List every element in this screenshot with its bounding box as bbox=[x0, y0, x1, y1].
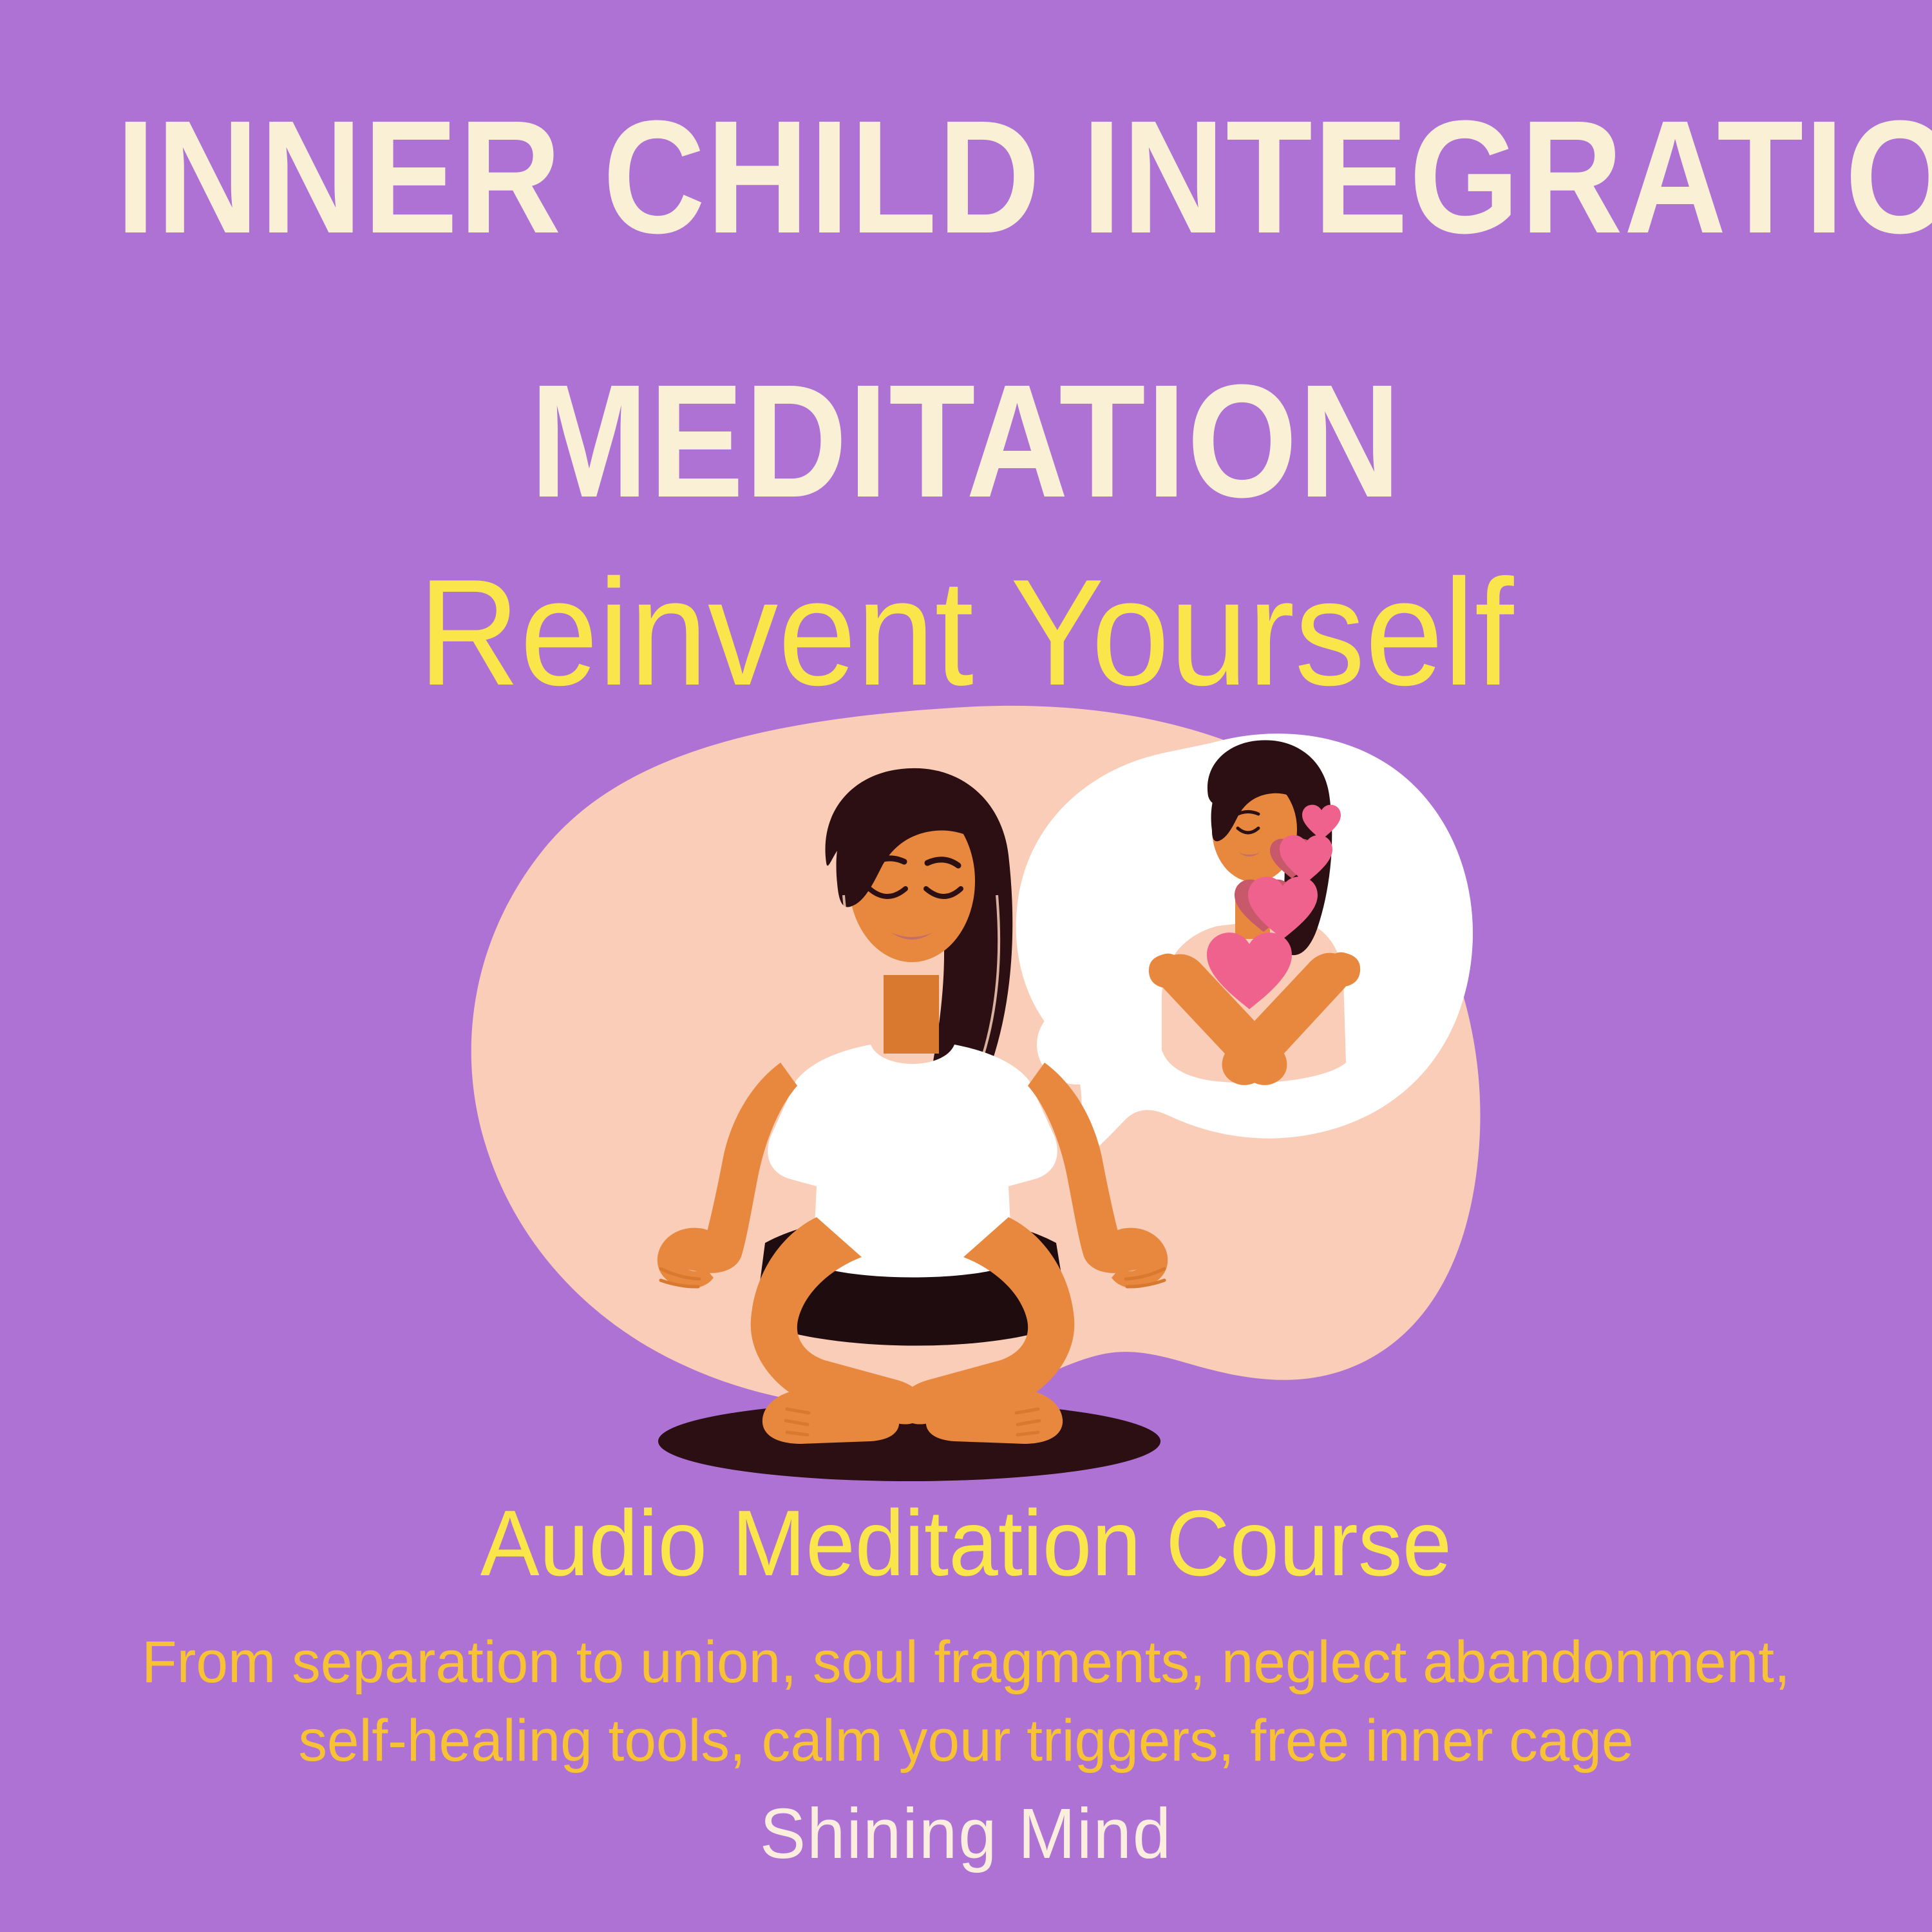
description-line-1: From separation to union, soul fragments… bbox=[29, 1623, 1903, 1701]
cover-title-line-2: MEDITATION bbox=[116, 361, 1816, 522]
cover-subtitle: Reinvent Yourself bbox=[68, 551, 1864, 714]
audiobook-cover: INNER CHILD INTEGRATION MEDITATION Reinv… bbox=[0, 0, 1932, 1932]
course-format-label: Audio Meditation Course bbox=[48, 1494, 1884, 1592]
cover-illustration bbox=[0, 702, 1932, 1513]
cover-title-line-1: INNER CHILD INTEGRATION bbox=[116, 97, 1816, 258]
neck bbox=[884, 975, 939, 1054]
author-name: Shining Mind bbox=[29, 1797, 1903, 1871]
description-line-2: self-healing tools, calm your triggers, … bbox=[29, 1701, 1903, 1780]
cover-description: From separation to union, soul fragments… bbox=[29, 1623, 1903, 1781]
